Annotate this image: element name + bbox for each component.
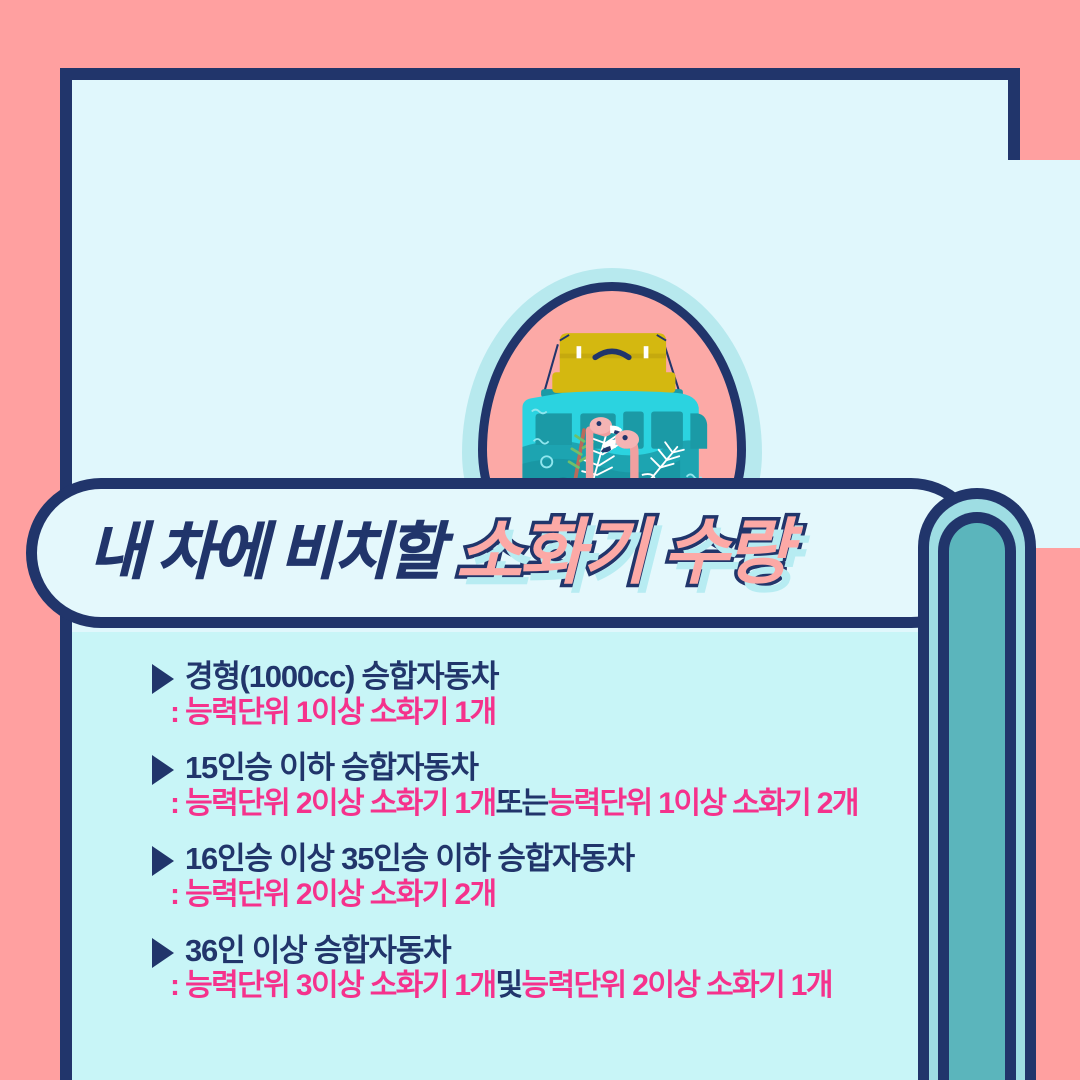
item-heading: 15인승 이하 승합자동차 [185,751,478,786]
detail-prefix: : [170,696,185,729]
item-detail: : 능력단위 3이상 소화기 1개및능력단위 2이상 소화기 1개 [170,969,1008,1004]
detail-connector: 및 [496,969,522,1002]
requirements-list: 경형(1000cc) 승합자동차 : 능력단위 1이상 소화기 1개 15인승 … [72,632,1008,1080]
detail-a: 능력단위 3이상 소화기 1개 [185,969,495,1002]
item-detail: : 능력단위 2이상 소화기 2개 [170,878,1008,913]
item-heading-row: 15인승 이하 승합자동차 [152,751,1008,786]
title-banner: 내 차에 비치할 소화기 수량 [26,478,986,628]
detail-prefix: : [170,969,185,1002]
item-heading: 16인승 이상 35인승 이하 승합자동차 [185,842,634,877]
detail-prefix: : [170,878,185,911]
triangle-bullet-icon [152,846,174,876]
detail-connector: 또는 [496,787,548,820]
triangle-bullet-icon [152,664,174,694]
list-item: 경형(1000cc) 승합자동차 : 능력단위 1이상 소화기 1개 [152,660,1008,730]
title-part-2: 소화기 수량 [456,517,789,589]
list-item: 36인 이상 승합자동차 : 능력단위 3이상 소화기 1개및능력단위 2이상 … [152,934,1008,1004]
triangle-bullet-icon [152,755,174,785]
detail-a: 능력단위 2이상 소화기 1개 [185,787,495,820]
item-heading-row: 36인 이상 승합자동차 [152,934,1008,969]
detail-b: 능력단위 2이상 소화기 1개 [522,969,832,1002]
item-heading: 경형(1000cc) 승합자동차 [185,660,498,695]
list-item: 16인승 이상 35인승 이하 승합자동차 : 능력단위 2이상 소화기 2개 [152,842,1008,912]
item-heading: 36인 이상 승합자동차 [185,934,450,969]
triangle-bullet-icon [152,938,174,968]
detail-a: 능력단위 2이상 소화기 2개 [185,878,495,911]
item-heading-row: 경형(1000cc) 승합자동차 [152,660,1008,695]
title-part-1: 내 차에 비치할 [89,522,442,584]
list-item: 15인승 이하 승합자동차 : 능력단위 2이상 소화기 1개또는능력단위 1이… [152,751,1008,821]
detail-prefix: : [170,787,185,820]
item-detail: : 능력단위 1이상 소화기 1개 [170,696,1008,731]
item-heading-row: 16인승 이상 35인승 이하 승합자동차 [152,842,1008,877]
detail-a: 능력단위 1이상 소화기 1개 [185,696,495,729]
detail-b: 능력단위 1이상 소화기 2개 [548,787,858,820]
item-detail: : 능력단위 2이상 소화기 1개또는능력단위 1이상 소화기 2개 [170,787,1008,822]
page-curl-inner [938,512,1016,1080]
